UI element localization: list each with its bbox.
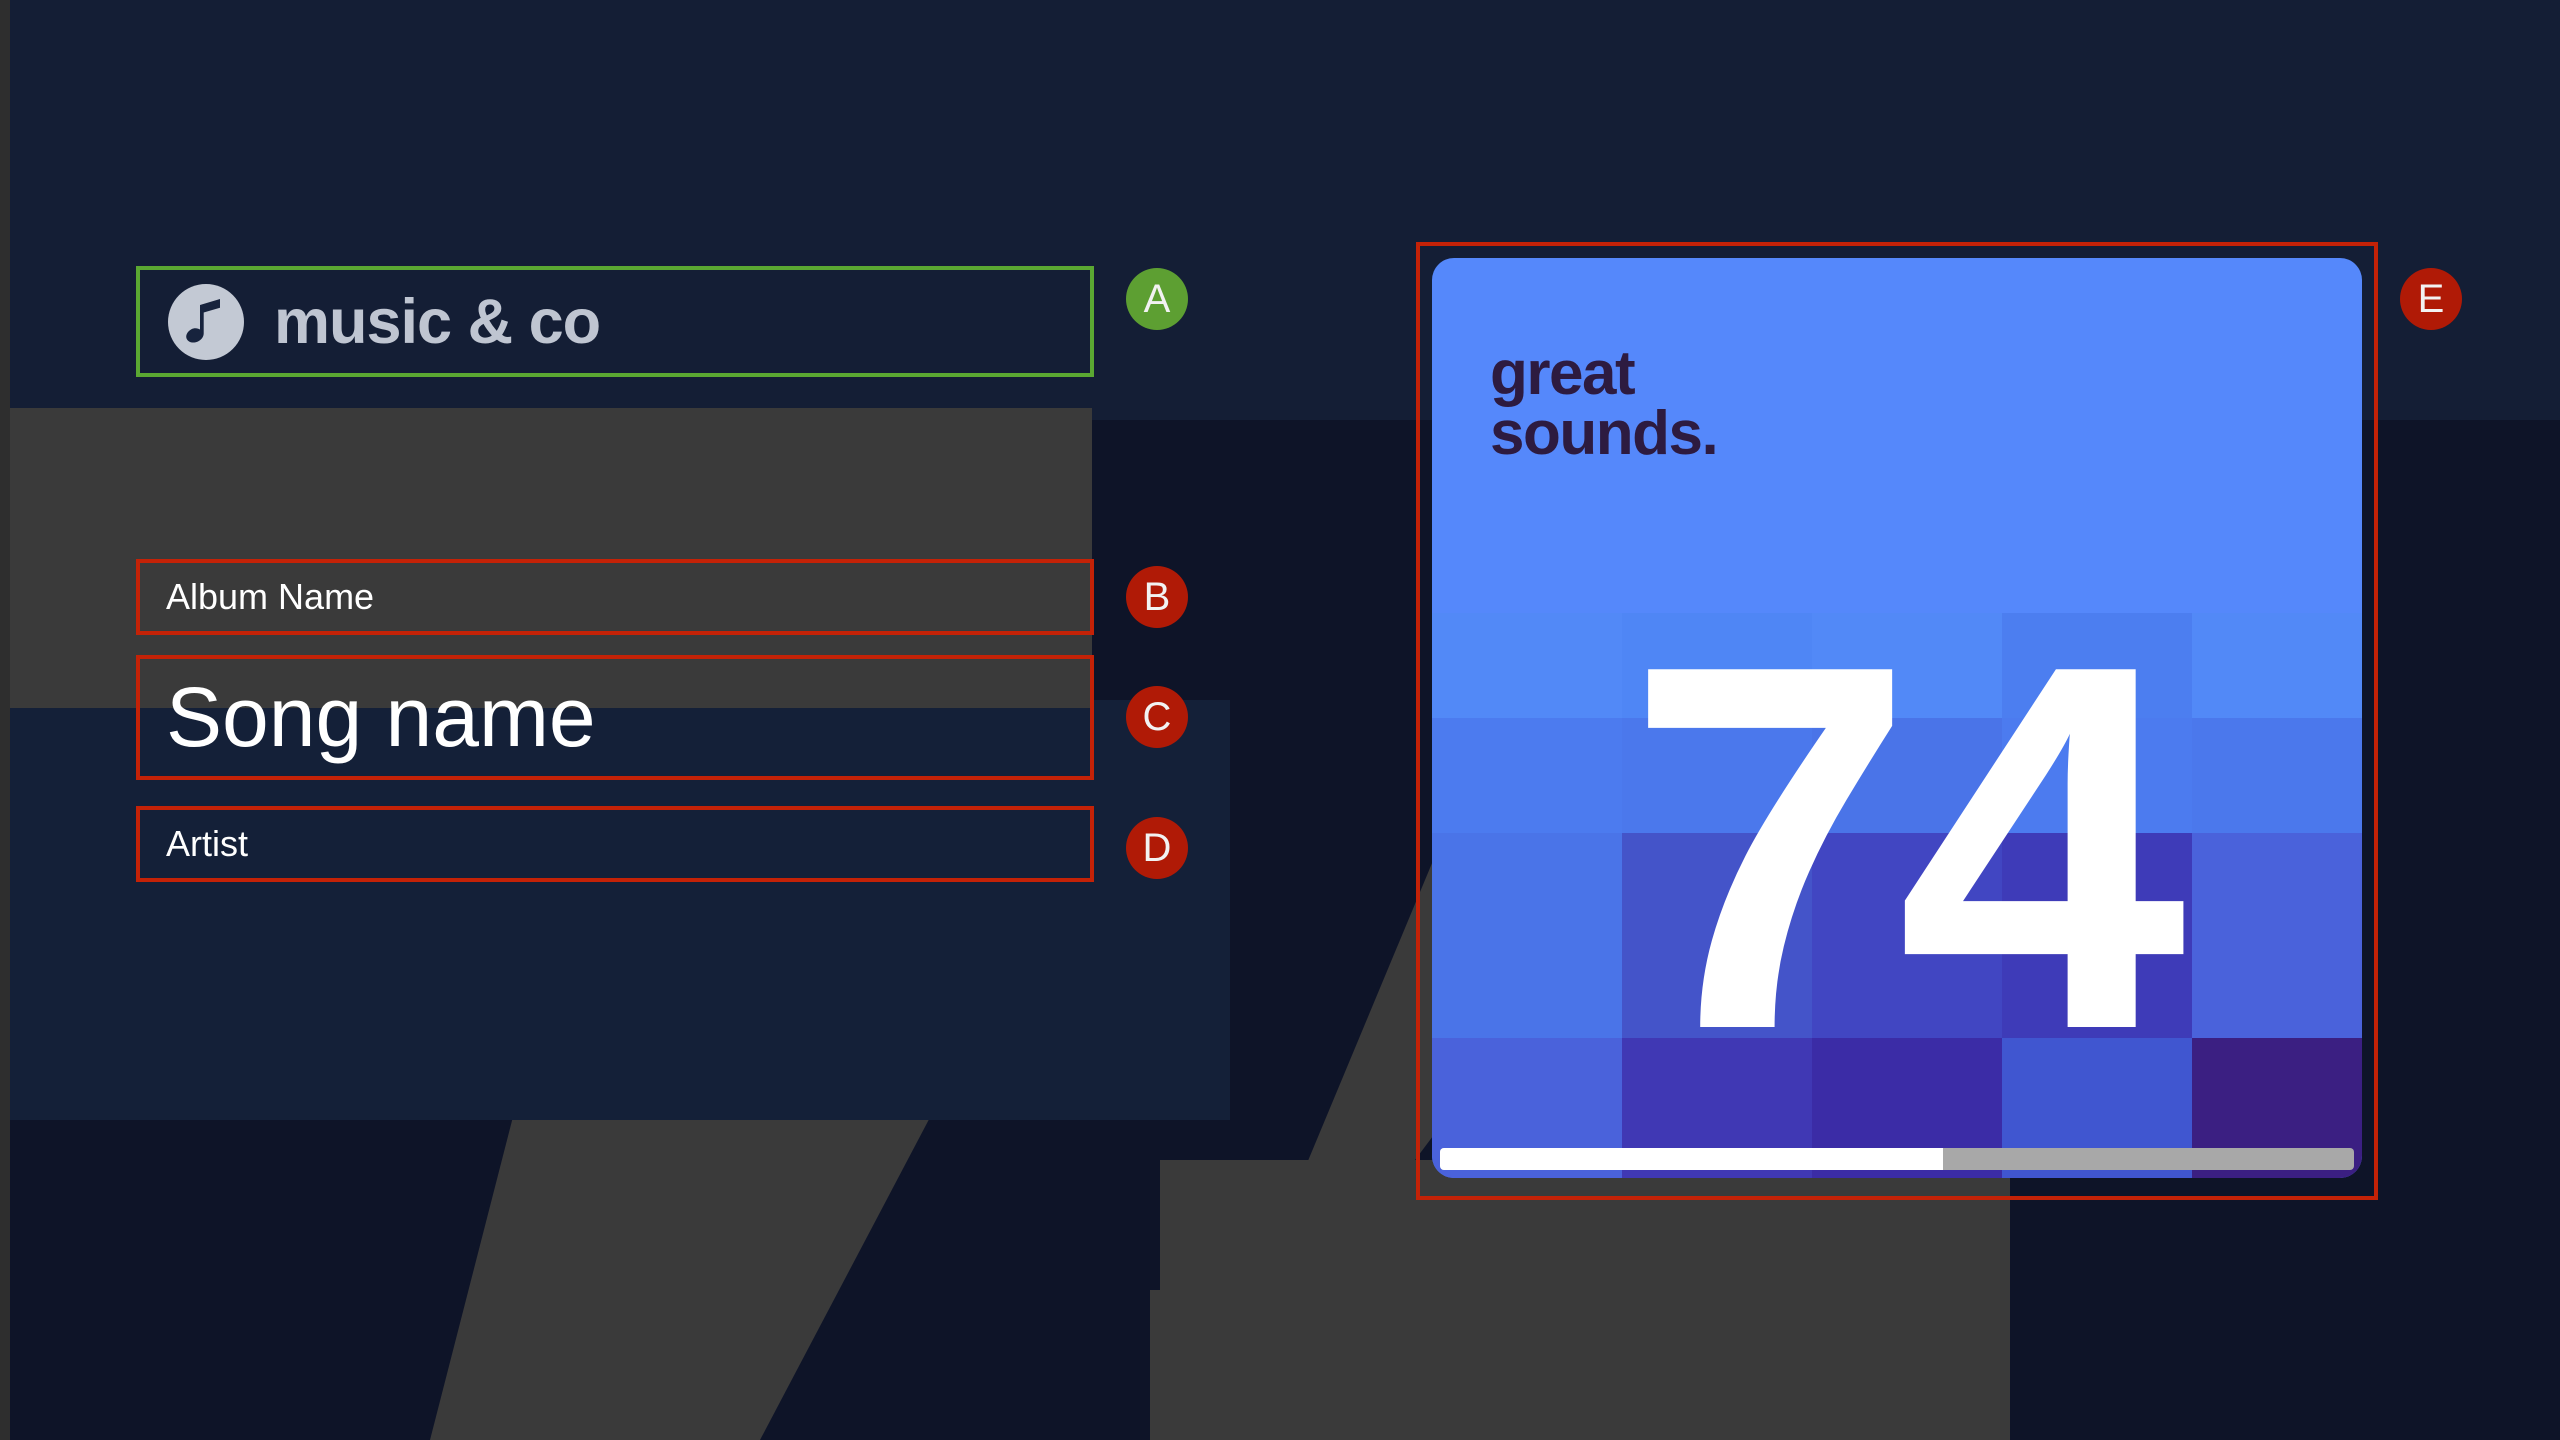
annotation-box-a [136,266,1094,377]
annotation-box-d [136,806,1094,882]
annotation-box-b [136,559,1094,635]
annotation-badge-b: B [1126,566,1188,628]
background-left-strip [0,0,10,1440]
annotation-box-e [1416,242,2378,1200]
app-window: music & co A Album Name B Song name C Ar… [0,0,2560,1440]
annotation-badge-d: D [1126,817,1188,879]
annotation-box-c [136,655,1094,780]
annotation-badge-a: A [1126,268,1188,330]
annotation-badge-c: C [1126,686,1188,748]
annotation-badge-e: E [2400,268,2462,330]
